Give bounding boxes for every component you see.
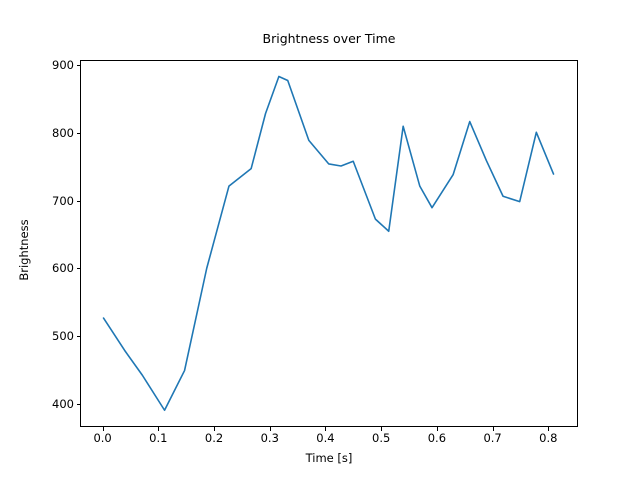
x-tick-mark: [214, 427, 215, 431]
x-tick-label: 0.0: [73, 431, 133, 445]
chart-figure: Brightness over Time 400500600700800900 …: [0, 0, 640, 480]
y-tick-mark: [77, 336, 81, 337]
y-tick-label: 400: [14, 397, 74, 411]
y-tick-label: 800: [14, 126, 74, 140]
x-tick-label: 0.5: [351, 431, 411, 445]
x-tick-mark: [548, 427, 549, 431]
x-axis-label: Time [s]: [80, 451, 578, 465]
x-tick-label: 0.6: [407, 431, 467, 445]
y-tick-mark: [77, 201, 81, 202]
x-tick-label: 0.3: [240, 431, 300, 445]
y-tick-label: 900: [14, 58, 74, 72]
y-tick-mark: [77, 268, 81, 269]
x-tick-mark: [325, 427, 326, 431]
chart-title: Brightness over Time: [80, 31, 578, 47]
x-tick-mark: [493, 427, 494, 431]
x-tick-mark: [270, 427, 271, 431]
y-tick-mark: [77, 133, 81, 134]
brightness-line: [104, 76, 554, 410]
line-plot-svg: [81, 61, 577, 426]
y-axis-label: Brightness: [17, 160, 31, 340]
x-tick-mark: [103, 427, 104, 431]
x-tick-label: 0.7: [463, 431, 523, 445]
x-tick-label: 0.8: [518, 431, 578, 445]
x-tick-mark: [437, 427, 438, 431]
x-tick-mark: [381, 427, 382, 431]
x-tick-mark: [158, 427, 159, 431]
x-tick-label: 0.1: [128, 431, 188, 445]
y-tick-mark: [77, 404, 81, 405]
x-tick-label: 0.4: [295, 431, 355, 445]
y-tick-mark: [77, 65, 81, 66]
x-tick-label: 0.2: [184, 431, 244, 445]
plot-area: [80, 60, 578, 427]
